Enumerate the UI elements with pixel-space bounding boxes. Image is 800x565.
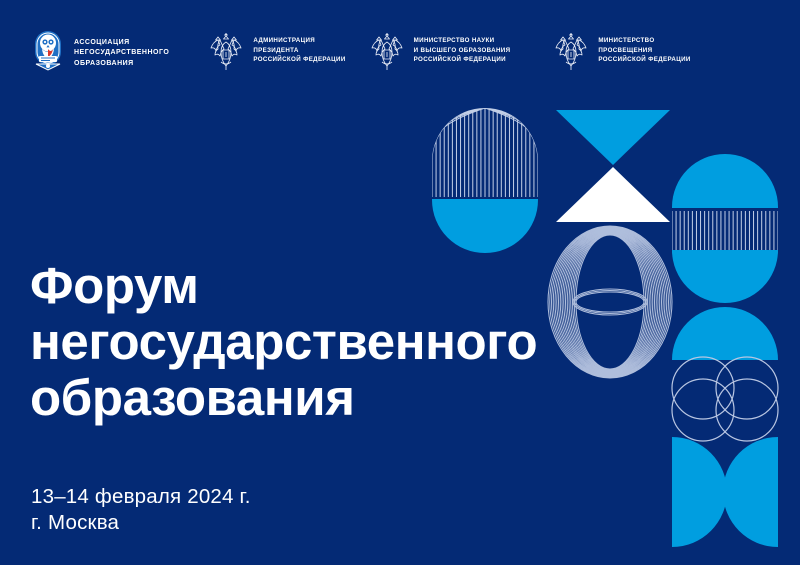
presidential-administration-logo-text: АДМИНИСТРАЦИЯ ПРЕЗИДЕНТА РОССИЙСКОЙ ФЕДЕ… — [253, 37, 345, 64]
event-date: 13–14 февраля 2024 г. — [31, 484, 251, 510]
logo-line: МИНИСТЕРСТВО — [598, 37, 690, 45]
ministry-of-science-logo-text: МИНИСТЕРСТВО НАУКИ И ВЫСШЕГО ОБРАЗОВАНИЯ… — [414, 37, 511, 64]
logo-line: ПРОСВЕЩЕНИЯ — [598, 47, 690, 55]
title-line: Форум — [30, 258, 590, 314]
shape-capsule-solid-top-striped-bottom — [672, 154, 778, 300]
event-city: г. Москва — [31, 510, 251, 536]
logo-line: РОССИЙСКОЙ ФЕДЕРАЦИИ — [414, 56, 511, 64]
logo-line: ОБРАЗОВАНИЯ — [74, 59, 169, 69]
logo-line: И ВЫСШЕГО ОБРАЗОВАНИЯ — [414, 47, 511, 55]
logo-line: АДМИНИСТРАЦИЯ — [253, 37, 345, 45]
logo-line: МИНИСТЕРСТВО НАУКИ — [414, 37, 511, 45]
russian-coat-of-arms-icon — [207, 30, 245, 72]
association-logo: АССОЦИАЦИЯ НЕГОСУДАРСТВЕННОГО ОБРАЗОВАНИ… — [30, 30, 169, 76]
shape-double-semicircle-bowtie — [672, 250, 778, 360]
logo-line: ПРЕЗИДЕНТА — [253, 47, 345, 55]
shape-facing-half-discs — [672, 437, 778, 547]
forum-title: Форум негосударственного образования — [30, 258, 590, 426]
page-title: Форум негосударственного образования — [30, 258, 590, 426]
event-details: 13–14 февраля 2024 г. г. Москва — [31, 484, 251, 536]
russian-coat-of-arms-icon — [368, 30, 406, 72]
logo-line: АССОЦИАЦИЯ — [74, 38, 169, 48]
presidential-administration-logo: АДМИНИСТРАЦИЯ ПРЕЗИДЕНТА РОССИЙСКОЙ ФЕДЕ… — [207, 30, 345, 72]
russian-coat-of-arms-icon — [552, 30, 590, 72]
shape-hourglass-triangles — [556, 110, 670, 222]
association-logo-text: АССОЦИАЦИЯ НЕГОСУДАРСТВЕННОГО ОБРАЗОВАНИ… — [74, 38, 169, 69]
partner-logo-bar: АССОЦИАЦИЯ НЕГОСУДАРСТВЕННОГО ОБРАЗОВАНИ… — [30, 30, 780, 86]
ministry-of-education-logo-text: МИНИСТЕРСТВО ПРОСВЕЩЕНИЯ РОССИЙСКОЙ ФЕДЕ… — [598, 37, 690, 64]
title-line: негосударственного — [30, 314, 590, 370]
title-line: образования — [30, 370, 590, 426]
shape-capsule-striped-top-solid-bottom — [432, 108, 538, 253]
owl-emblem-icon — [30, 30, 66, 76]
shape-four-overlapping-circles — [672, 357, 778, 441]
logo-line: НЕГОСУДАРСТВЕННОГО — [74, 48, 169, 58]
ministry-of-science-logo: МИНИСТЕРСТВО НАУКИ И ВЫСШЕГО ОБРАЗОВАНИЯ… — [368, 30, 511, 72]
poster-canvas: АССОЦИАЦИЯ НЕГОСУДАРСТВЕННОГО ОБРАЗОВАНИ… — [0, 0, 800, 565]
logo-line: РОССИЙСКОЙ ФЕДЕРАЦИИ — [598, 56, 690, 64]
logo-line: РОССИЙСКОЙ ФЕДЕРАЦИИ — [253, 56, 345, 64]
ministry-of-education-logo: МИНИСТЕРСТВО ПРОСВЕЩЕНИЯ РОССИЙСКОЙ ФЕДЕ… — [552, 30, 690, 72]
